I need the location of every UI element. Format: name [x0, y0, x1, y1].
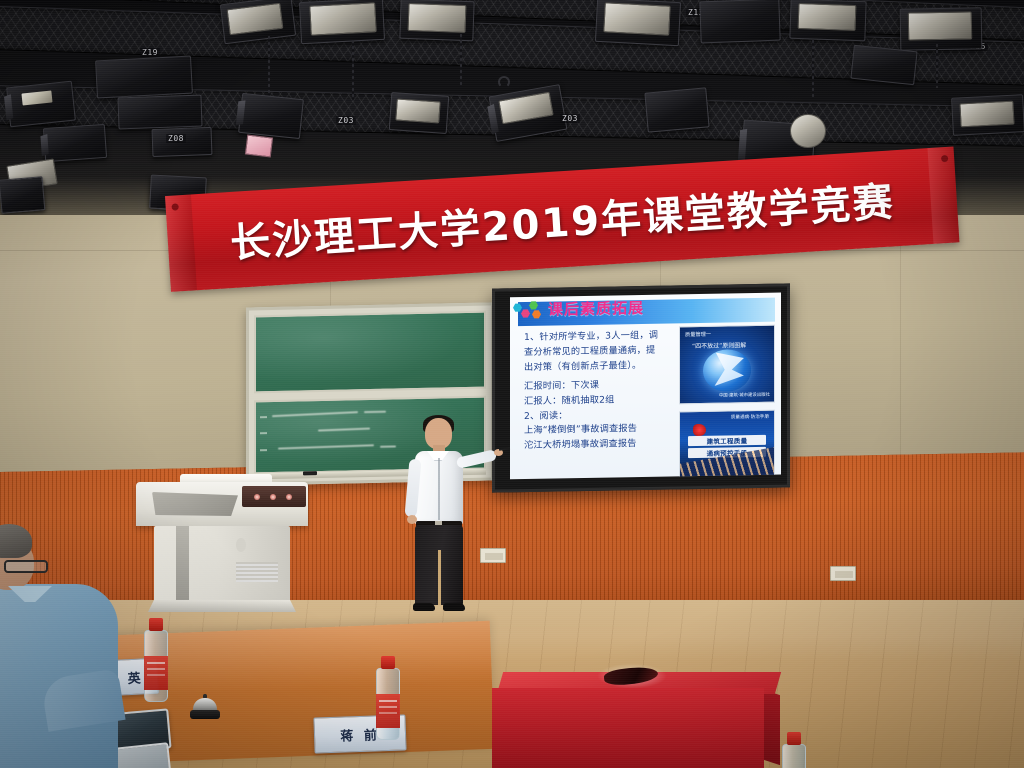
lectern-indicator-light: [270, 494, 276, 500]
presenter-shirt-placket: [438, 458, 440, 520]
wall-outlet-icon: [830, 566, 856, 581]
hex-icon: [513, 303, 522, 312]
bottle-cap: [149, 618, 163, 631]
chalk-mark: [260, 449, 267, 451]
lamp-label: Z03: [560, 114, 580, 123]
water-bottle: [144, 618, 168, 702]
hex-icon: [521, 309, 530, 318]
lectern-base: [148, 600, 296, 612]
stage-lamp-silver: [408, 3, 467, 33]
rigging-hook-icon: [498, 76, 510, 88]
presenter: [395, 418, 495, 616]
slide-image-title: “四不放过”原则图解: [692, 340, 746, 350]
chalk-writing: [380, 445, 396, 447]
chalk-mark: [260, 416, 267, 418]
seated-judge: [0, 524, 110, 768]
chalkboard-upper-panel: [254, 311, 486, 394]
red-table-front: [492, 688, 764, 768]
presentation-slide: 课后素质拓展 1、针对所学专业，3人一组，调 查分析常见的工程质量通病，提 出对…: [510, 293, 781, 480]
lectern: [136, 474, 308, 614]
projection-screen: 课后素质拓展 1、针对所学专业，3人一组，调 查分析常见的工程质量通病，提 出对…: [492, 283, 790, 492]
hex-icon: [532, 310, 541, 319]
stage-lamp: [0, 176, 45, 214]
lamp-label: Z19: [140, 48, 160, 57]
lamp-gel-filter: [245, 134, 273, 157]
lectern-indicator-light: [286, 494, 292, 500]
stage-lamp-silver: [309, 2, 376, 35]
water-bottle: [782, 732, 806, 768]
stage-lamp: [850, 45, 917, 86]
stage-lamp: [238, 93, 304, 139]
bottle-cap: [381, 656, 395, 669]
presenter-right-arm: [456, 449, 497, 469]
slide-image-caption: 质量通病·防治手册: [731, 414, 769, 421]
stage-lamp-silver: [798, 3, 857, 31]
presenter-leg-gap: [438, 550, 441, 605]
lamp-cable: [460, 34, 462, 88]
stage-lamp: [699, 0, 780, 43]
judge-hair: [0, 524, 32, 558]
stage-lamp: [6, 81, 76, 128]
stage-lamp: [95, 56, 193, 99]
slide-image-caption: 质量管理一: [685, 331, 711, 338]
lectern-knob: [236, 538, 246, 552]
stage-lamp-silver: [959, 101, 1014, 128]
slide-line: 沱江大桥坍塌事故调查报告: [524, 437, 676, 455]
lamp-label: Z08: [166, 134, 186, 143]
stage-lamp: [43, 124, 107, 162]
presenter-shoe: [413, 603, 435, 611]
slide-line: 查分析常见的工程质量通病，提: [524, 343, 676, 361]
lamp-cable: [936, 44, 938, 88]
handbook-title-line-1: 建筑工程质量: [688, 435, 767, 446]
chalkboard-sheen: [256, 313, 484, 392]
decorative-splat: [693, 424, 706, 436]
red-draped-table: [492, 672, 778, 768]
slide-image-globe: 质量管理一 “四不放过”原则图解 中国·建筑·城市建设出版社: [679, 325, 775, 405]
chalk-mark: [260, 432, 267, 434]
bell-base: [190, 710, 220, 719]
lamp-label: Z03: [336, 116, 356, 125]
lamp-cable: [268, 36, 270, 100]
presenter-shoe: [443, 603, 465, 611]
stage-lamp: [644, 87, 709, 132]
stage-lamp: [117, 95, 202, 130]
lectern-vent: [236, 562, 278, 582]
lectern-indicator-light: [254, 494, 260, 500]
bottle-label: [144, 656, 168, 690]
lectern-stripe: [176, 526, 189, 602]
water-bottle: [376, 656, 400, 740]
bottle-body: [782, 744, 806, 768]
slide-image-publisher: 中国·建筑·城市建设出版社: [719, 392, 770, 399]
stage-lamp-silver: [395, 98, 440, 123]
service-bell[interactable]: [190, 696, 220, 720]
lectern-control-panel: [152, 492, 238, 516]
bottle-cap: [787, 732, 801, 745]
eyeglasses-icon: [4, 560, 48, 573]
slide-title: 课后素质拓展: [548, 297, 644, 320]
slide-body: 1、针对所学专业，3人一组，调 查分析常见的工程质量通病，提 出对策（有创新点子…: [524, 328, 676, 454]
bottle-label: [376, 694, 400, 728]
stage-lamp-reflector: [790, 114, 826, 148]
slide-image-handbook: 质量通病·防治手册 建筑工程质量 通病预控手册: [679, 410, 775, 480]
stage-lamp-silver: [908, 11, 972, 40]
lamp-cable: [812, 40, 814, 98]
lecture-hall-photo: Z08 Z19 Z08 Z03 Z03 Z13: [0, 0, 1024, 768]
lamp-cable: [352, 40, 354, 100]
stage-lamp-silver: [603, 2, 670, 35]
hex-icon: [529, 301, 538, 310]
slide-title-decoration: [513, 301, 543, 319]
